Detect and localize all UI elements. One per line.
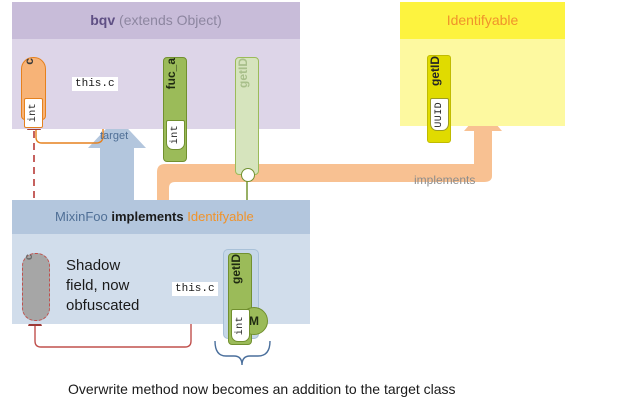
class-body-identifyable — [400, 39, 565, 126]
class-name-mixinfoo: MixinFoo — [55, 209, 108, 224]
member-bqv-method-getid[interactable]: getID — [235, 57, 259, 175]
label-this-c-top: this.c — [72, 77, 118, 91]
type-tag-bqv-method-fuc-a: int — [166, 120, 185, 150]
class-keyword-implements: implements — [111, 209, 183, 224]
socket-circle-icon — [241, 168, 255, 182]
member-label-bqv-field-c: c — [22, 58, 45, 71]
member-mixinfoo-shadow-field-c[interactable]: c — [22, 253, 50, 321]
label-target-arrow: target — [100, 130, 128, 142]
type-tag-mixinfoo-method-getid: int — [231, 309, 250, 342]
type-tag-identifyable-method-getid: UUID — [430, 98, 449, 131]
type-tag-bqv-field-c: int — [24, 98, 43, 128]
class-header-mixinfoo: MixinFoo implements Identifyable — [12, 200, 310, 234]
member-label-identifyable-method-getid: getID — [428, 56, 450, 93]
class-header-bqv: bqv (extends Object) — [12, 2, 300, 39]
member-label-mixinfoo-shadow-field-c: c — [23, 254, 49, 266]
label-implements-edge: implements — [414, 173, 475, 187]
member-label-bqv-method-fuc-a: fuc_a — [164, 58, 186, 97]
member-label-mixinfoo-method-getid: getID — [229, 254, 251, 292]
class-box-identifyable: Identifyable — [400, 2, 565, 126]
class-name-identifyable: Identifyable — [447, 12, 519, 28]
class-name-bqv: bqv — [90, 12, 115, 28]
diagram-caption: Overwrite method now becomes an addition… — [68, 381, 456, 397]
member-label-bqv-method-getid: getID — [236, 58, 258, 96]
class-interface-identifyable: Identifyable — [187, 209, 254, 224]
diagram-canvas: bqv (extends Object) Identifyable MixinF… — [0, 0, 640, 406]
class-header-identifyable: Identifyable — [400, 2, 565, 39]
note-shadow-field: Shadow field, now obfuscated — [66, 256, 186, 316]
class-extends-bqv: (extends Object) — [119, 12, 222, 28]
